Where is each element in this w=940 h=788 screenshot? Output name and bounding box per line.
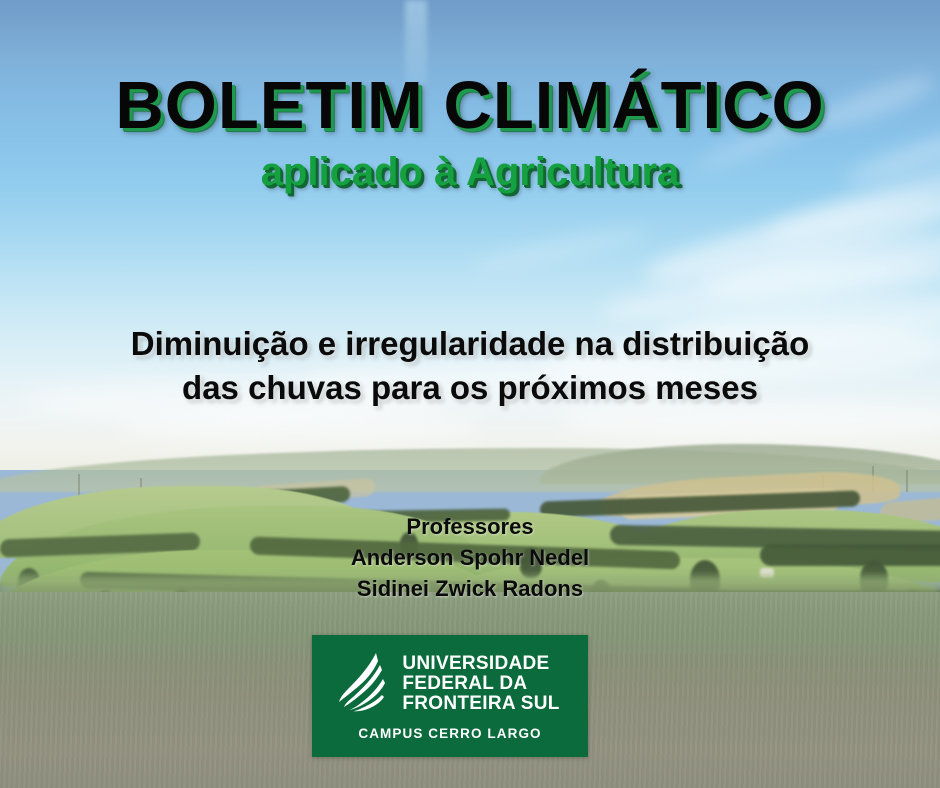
uffs-logo: UNIVERSIDADE FEDERAL DA FRONTEIRA SUL CA…: [312, 635, 588, 757]
power-pylon: [906, 470, 908, 492]
logo-wordmark: UNIVERSIDADE FEDERAL DA FRONTEIRA SUL: [402, 654, 559, 715]
page-title: BOLETIM CLIMÁTICO: [0, 72, 940, 139]
headline: Diminuição e irregularidade na distribui…: [0, 322, 940, 410]
authors-label: Professores: [0, 512, 940, 543]
uffs-flame-icon: [336, 651, 392, 717]
logo-line-2: FEDERAL DA: [402, 674, 559, 694]
logo-line-1: UNIVERSIDADE: [402, 654, 559, 674]
poster-canvas: BOLETIM CLIMÁTICO aplicado à Agricultura…: [0, 0, 940, 788]
logo-campus-label: CAMPUS CERRO LARGO: [358, 726, 541, 741]
page-subtitle: aplicado à Agricultura: [0, 152, 940, 192]
logo-line-3: FRONTEIRA SUL: [402, 694, 559, 714]
power-pylon: [78, 474, 80, 496]
cloud-wisp: [120, 410, 480, 444]
headline-line-2: das chuvas para os próximos meses: [0, 366, 940, 410]
logo-row: UNIVERSIDADE FEDERAL DA FRONTEIRA SUL: [336, 651, 559, 717]
headline-line-1: Diminuição e irregularidade na distribui…: [0, 322, 940, 366]
author-name-1: Anderson Spohr Nedel: [0, 543, 940, 574]
authors-block: Professores Anderson Spohr Nedel Sidinei…: [0, 512, 940, 604]
author-name-2: Sidinei Zwick Radons: [0, 574, 940, 605]
